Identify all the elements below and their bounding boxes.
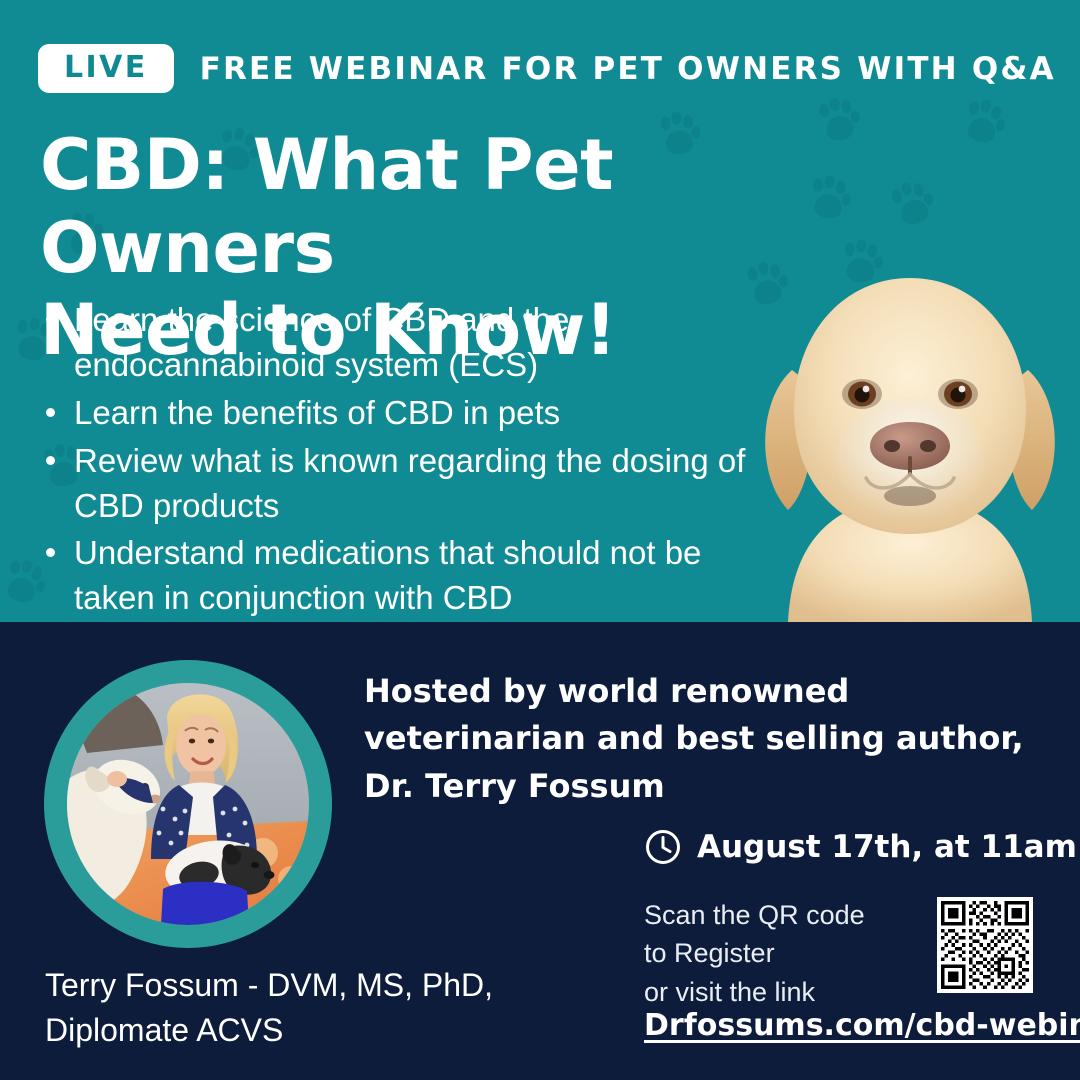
webinar-tagline: FREE WEBINAR FOR PET OWNERS WITH Q&A [200, 51, 1056, 87]
page-title-line-1: CBD: What Pet Owners [40, 124, 613, 289]
host-description-line-2: veterinarian and best selling author, [364, 715, 1024, 762]
paw-print-icon [884, 177, 942, 238]
live-badge: LIVE [38, 44, 174, 93]
topics-list: Learn the science of CBD and the endocan… [44, 298, 764, 622]
host-description-line-1: Hosted by world renowned [364, 668, 1024, 715]
list-item: Review what is known regarding the dosin… [44, 439, 764, 529]
event-datetime: August 17th, at 11am PST [697, 829, 1080, 865]
avatar [44, 660, 332, 948]
list-item: Learn the benefits of CBD in pets [44, 391, 764, 436]
live-header-row: LIVE FREE WEBINAR FOR PET OWNERS WITH Q&… [38, 44, 1056, 93]
scan-instructions-line-1: Scan the QR code [644, 896, 924, 934]
qr-code[interactable] [937, 897, 1033, 993]
clock-icon [644, 828, 682, 866]
registration-link[interactable]: Drfossums.com/cbd-webinar [644, 1008, 1080, 1043]
webinar-poster: LIVE FREE WEBINAR FOR PET OWNERS WITH Q&… [0, 0, 1080, 1080]
scan-instructions-line-2: to Register [644, 934, 924, 972]
event-datetime-row: August 17th, at 11am PST [644, 828, 1080, 866]
scan-instructions: Scan the QR code to Register or visit th… [644, 896, 924, 1011]
paw-print-icon [955, 96, 1010, 154]
presenter-credentials-line-1: Terry Fossum - DVM, MS, PhD, [45, 963, 565, 1008]
top-teal-panel: LIVE FREE WEBINAR FOR PET OWNERS WITH Q&… [0, 0, 1080, 622]
presenter-photo [67, 683, 309, 925]
host-description-line-3: Dr. Terry Fossum [364, 763, 1024, 810]
presenter-credentials: Terry Fossum - DVM, MS, PhD, Diplomate A… [45, 963, 565, 1054]
list-item: Understand medications that should not b… [44, 531, 764, 621]
list-item: Learn the science of CBD and the endocan… [44, 298, 764, 388]
presenter-credentials-line-2: Diplomate ACVS [45, 1008, 565, 1053]
scan-instructions-line-3: or visit the link [644, 973, 924, 1011]
host-description: Hosted by world renowned veterinarian an… [364, 668, 1024, 810]
